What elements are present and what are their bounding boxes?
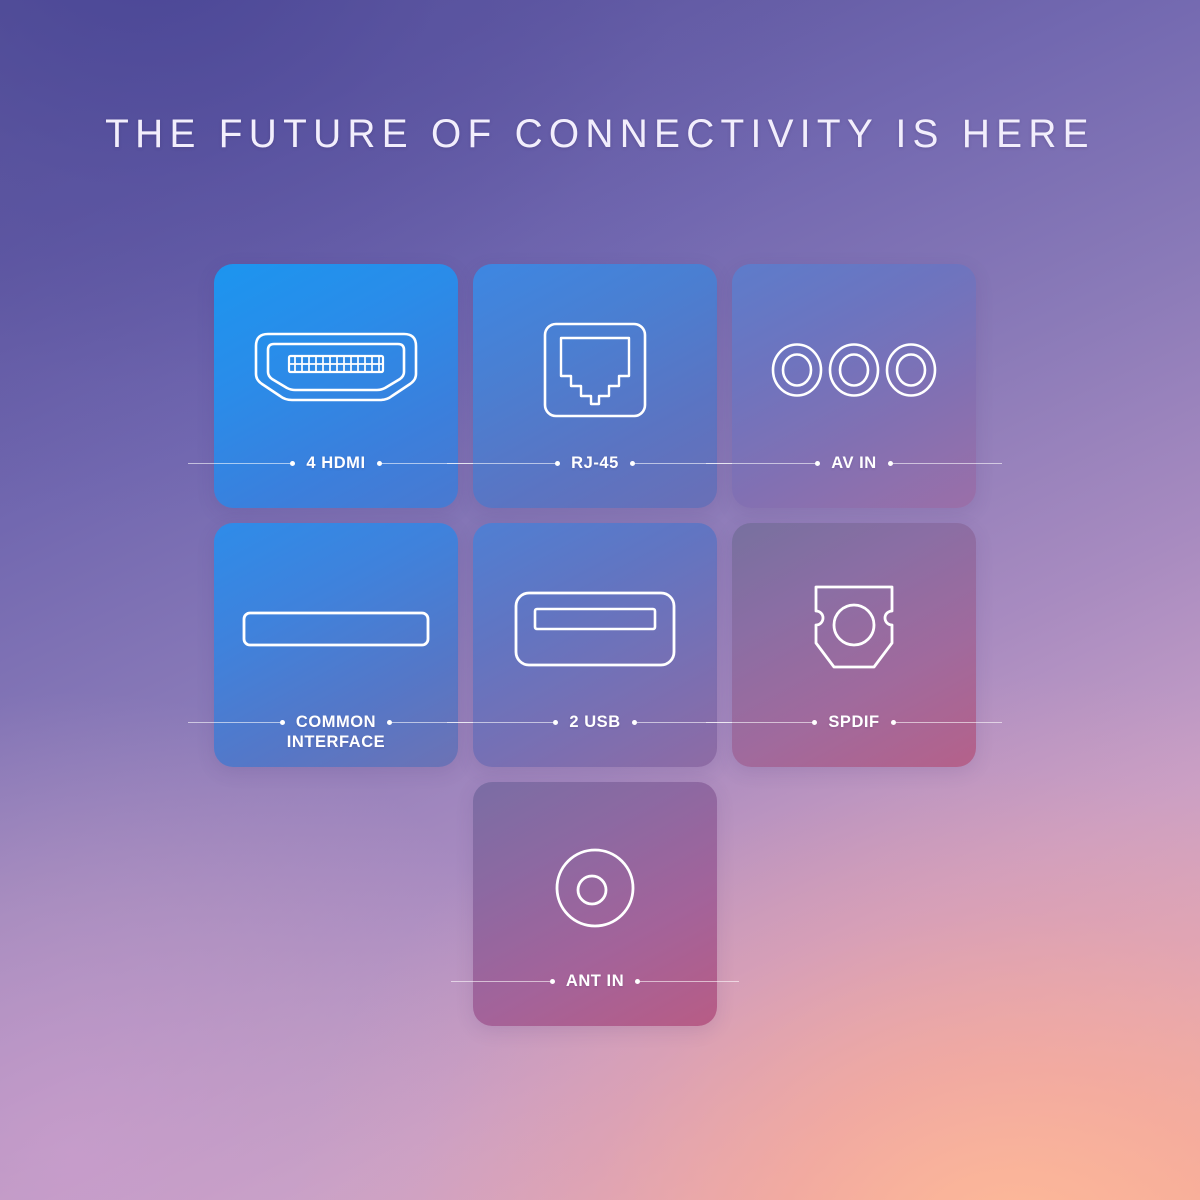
port-card-rj45[interactable]: RJ-45 (473, 264, 717, 508)
ci-card-slot-icon (214, 551, 458, 707)
coaxial-antenna-jack-icon (473, 810, 717, 966)
page-title: THE FUTURE OF CONNECTIVITY IS HERE (18, 112, 1182, 157)
port-card-hdmi[interactable]: 4 HDMI (214, 264, 458, 508)
rca-av-jacks-icon (732, 292, 976, 448)
port-card-usb[interactable]: 2 USB (473, 523, 717, 767)
port-card-avin[interactable]: AV IN (732, 264, 976, 508)
hdmi-port-icon (214, 292, 458, 448)
rj45-ethernet-port-icon (473, 292, 717, 448)
port-card-common-interface[interactable]: COMMON INTERFACE (214, 523, 458, 767)
infographic-canvas: THE FUTURE OF CONNECTIVITY IS HERE (0, 0, 1200, 1200)
port-card-spdif[interactable]: SPDIF (732, 523, 976, 767)
spdif-optical-port-icon (732, 551, 976, 707)
port-card-antin[interactable]: ANT IN (473, 782, 717, 1026)
usb-port-icon (473, 551, 717, 707)
port-card-grid: 4 HDMI RJ-45 (214, 264, 976, 1026)
